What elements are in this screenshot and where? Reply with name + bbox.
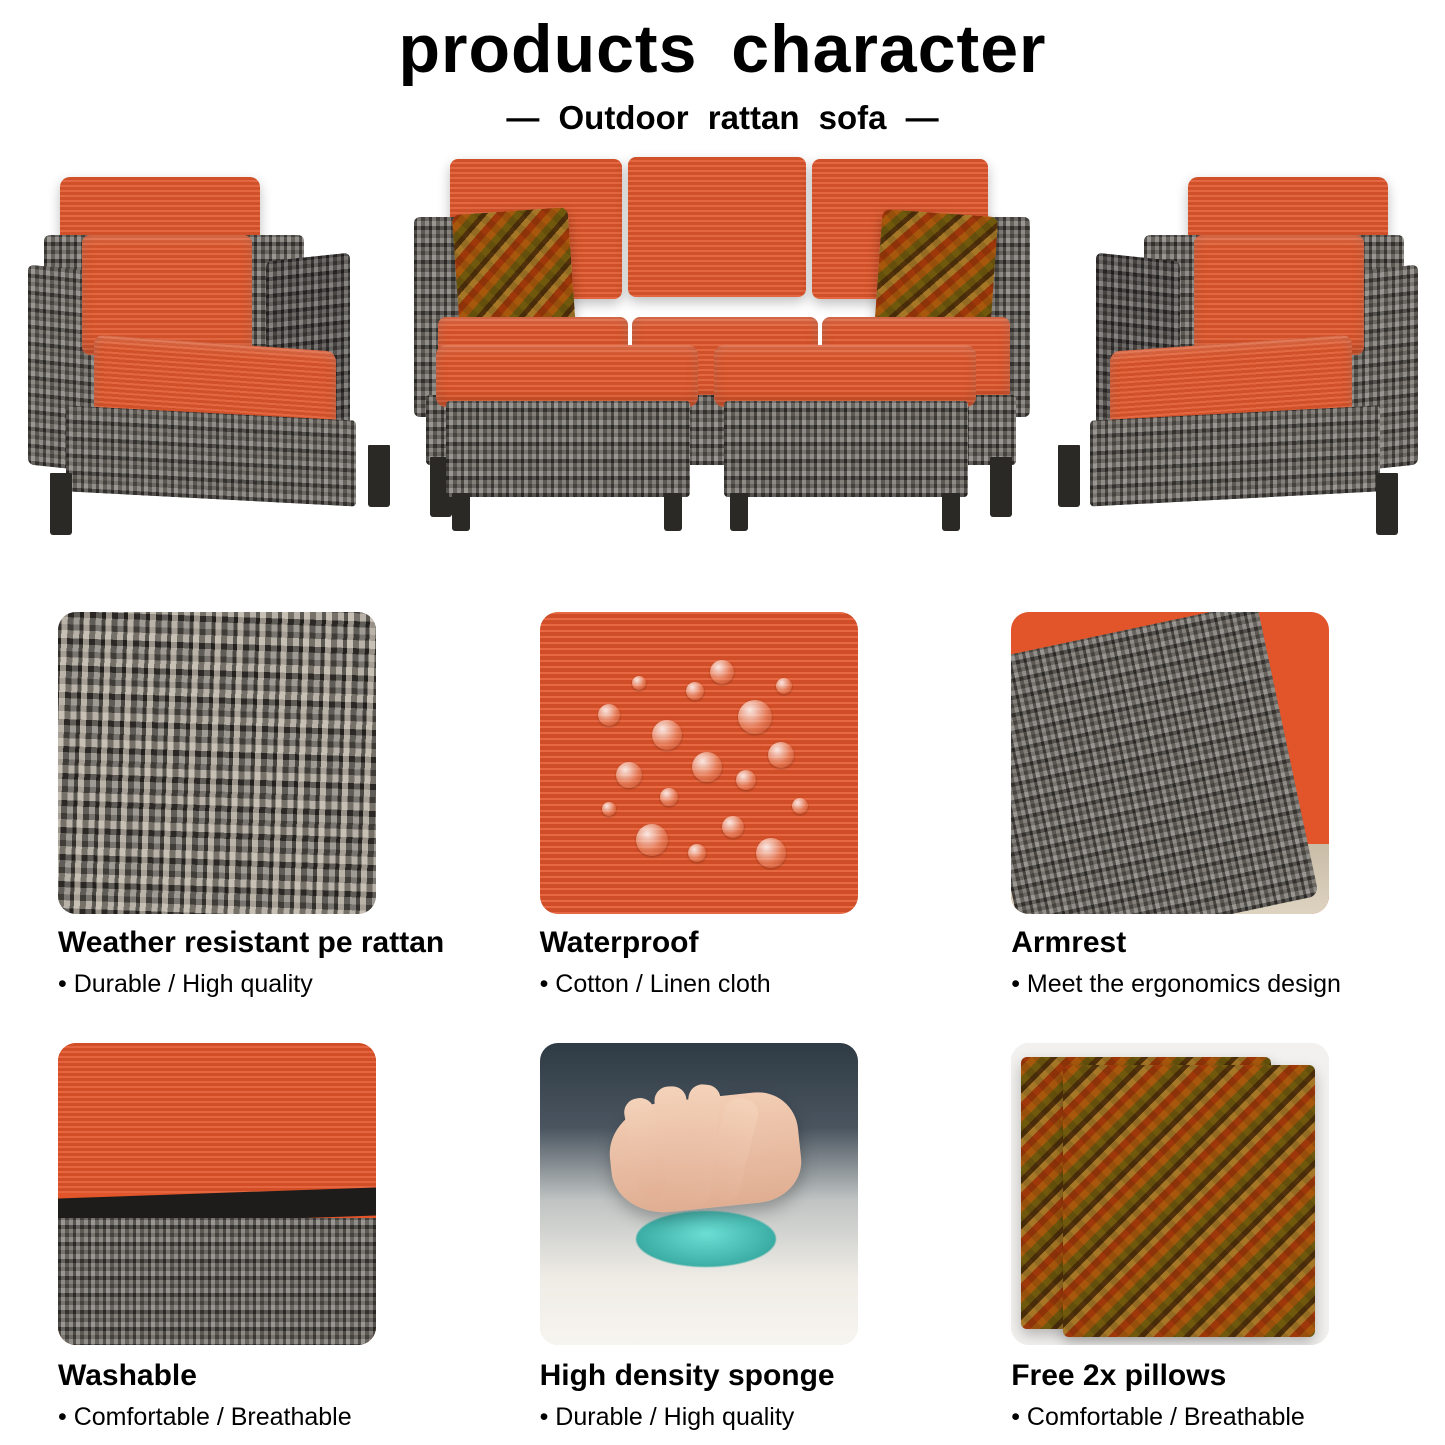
water-droplet-icon — [736, 770, 756, 790]
feature-grid: Weather resistant pe rattan • Durable / … — [0, 612, 1445, 1432]
chair-leg — [1376, 473, 1398, 535]
water-droplet-icon — [756, 838, 786, 868]
water-droplet-icon — [688, 844, 706, 862]
feature-row-2: Washable • Comfortable / Breathable High… — [0, 1043, 1445, 1432]
hero-product-image — [0, 153, 1445, 553]
water-droplet-icon — [710, 660, 734, 684]
water-droplet-icon — [768, 742, 794, 768]
feature-title: High density sponge — [540, 1359, 954, 1393]
feature-image-rattan-weave-closeup — [58, 612, 376, 914]
chair-base — [66, 406, 356, 507]
feature-free-2x-pillows: Free 2x pillows • Comfortable / Breathab… — [963, 1043, 1445, 1432]
chair-base — [1090, 406, 1380, 507]
feature-weather-resistant-pe-rattan: Weather resistant pe rattan • Durable / … — [0, 612, 482, 999]
chair-leg — [368, 445, 390, 507]
feature-image-water-droplets-on-fabric — [540, 612, 858, 914]
water-droplet-icon — [686, 682, 704, 700]
ottoman-base — [446, 401, 690, 497]
feature-subtitle: • Comfortable / Breathable — [58, 1403, 472, 1432]
ottoman-base — [724, 401, 968, 497]
feature-image-hand-pressing-sponge — [540, 1043, 858, 1345]
feature-subtitle: • Durable / High quality — [58, 970, 472, 999]
feature-waterproof: Waterproof • Cotton / Linen cloth — [482, 612, 964, 999]
ottoman-cushion — [714, 345, 976, 407]
armchair-left — [28, 177, 388, 527]
feature-title: Free 2x pillows — [1011, 1359, 1435, 1393]
feature-row-1: Weather resistant pe rattan • Durable / … — [0, 612, 1445, 999]
water-droplet-icon — [738, 700, 772, 734]
page-title: products character — [0, 14, 1445, 85]
header: products character — Outdoor rattan sofa… — [0, 0, 1445, 137]
page-subtitle: — Outdoor rattan sofa — — [0, 99, 1445, 137]
ottoman-right — [714, 345, 976, 545]
water-droplet-icon — [598, 704, 620, 726]
feature-image-armrest-closeup — [1011, 612, 1329, 914]
feature-title: Waterproof — [540, 926, 954, 960]
feature-image-chevron-throw-pillows — [1011, 1043, 1329, 1345]
ottoman-leg — [942, 493, 960, 531]
chair-leg — [1058, 445, 1080, 507]
feature-subtitle: • Meet the ergonomics design — [1011, 970, 1435, 999]
water-droplet-icon — [660, 788, 678, 806]
ottoman-leg — [664, 493, 682, 531]
feature-title: Armrest — [1011, 926, 1435, 960]
water-droplet-icon — [692, 752, 722, 782]
feature-high-density-sponge: High density sponge • Durable / High qua… — [482, 1043, 964, 1432]
feature-title: Washable — [58, 1359, 472, 1393]
feature-washable: Washable • Comfortable / Breathable — [0, 1043, 482, 1432]
cushion-top — [58, 1043, 376, 1193]
feature-armrest: Armrest • Meet the ergonomics design — [963, 612, 1445, 999]
armrest-wicker — [1011, 612, 1319, 914]
ottoman-cushion — [436, 345, 698, 407]
sofa-back-cushion — [628, 157, 806, 297]
ottoman-leg — [452, 493, 470, 531]
chair-leg — [50, 473, 72, 535]
feature-subtitle: • Comfortable / Breathable — [1011, 1403, 1435, 1432]
sofa-leg — [990, 457, 1012, 517]
water-droplet-icon — [602, 802, 616, 816]
water-droplet-icon — [792, 798, 808, 814]
feature-title: Weather resistant pe rattan — [58, 926, 472, 960]
feature-subtitle: • Cotton / Linen cloth — [540, 970, 954, 999]
water-droplet-icon — [636, 824, 668, 856]
sponge-dent — [636, 1211, 776, 1267]
feature-image-cushion-zipper-closeup — [58, 1043, 376, 1345]
wicker-base — [58, 1218, 376, 1345]
chevron-pillow-front — [1063, 1065, 1315, 1337]
water-droplet-icon — [776, 678, 792, 694]
water-droplet-icon — [632, 676, 646, 690]
water-droplet-icon — [722, 816, 744, 838]
ottoman-left — [436, 345, 698, 545]
water-droplet-icon — [652, 720, 682, 750]
feature-subtitle: • Durable / High quality — [540, 1403, 954, 1432]
ottoman-leg — [730, 493, 748, 531]
armchair-right — [1058, 177, 1418, 527]
water-droplet-icon — [616, 762, 642, 788]
waterproof-fabric — [540, 612, 858, 914]
